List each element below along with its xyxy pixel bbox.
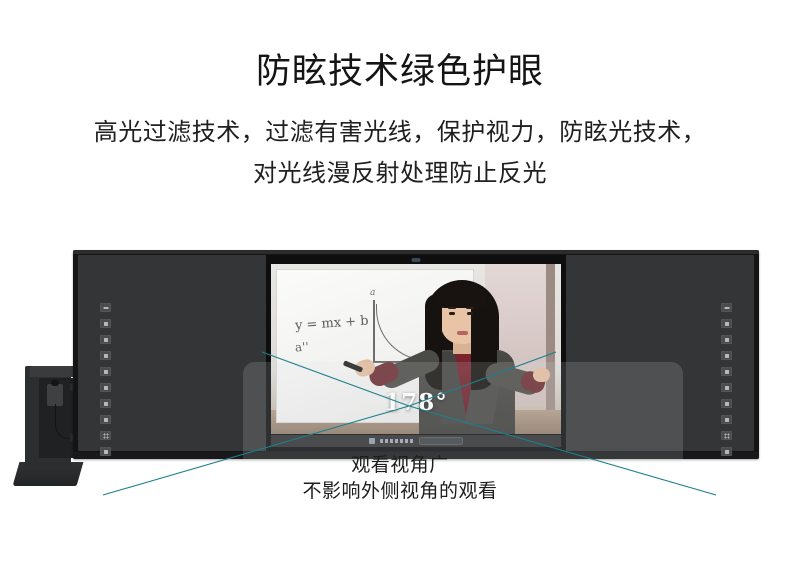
right-key-column (721, 303, 732, 456)
page-title: 防眩技术绿色护眼 (0, 0, 800, 94)
graph-y-axis (373, 300, 375, 362)
hair-fringe (437, 284, 487, 308)
home-key-icon-right[interactable] (721, 399, 732, 408)
center-display: y = mx + b a'' a b (266, 255, 566, 451)
eye-left (449, 312, 455, 315)
whiteboard-equation: y = mx + b (295, 313, 370, 333)
source-key-icon[interactable] (100, 367, 111, 376)
eye-right (467, 312, 473, 315)
whiteboard-equation-2: a'' (295, 340, 310, 355)
caption-line-1: 观看视角广 (0, 452, 800, 478)
right-blackboard-panel (566, 255, 754, 451)
left-blackboard-panel (78, 255, 266, 451)
menu-key-icon-right[interactable] (721, 351, 732, 360)
interactive-flat-panel: y = mx + b a'' a b (73, 250, 759, 459)
volume-key-icon[interactable] (100, 383, 111, 392)
viewing-angle-label: 178° (271, 390, 561, 416)
taskbar-search-box[interactable] (419, 437, 463, 445)
hair-side-left (425, 294, 442, 390)
brightness-up-key-icon-right[interactable] (721, 319, 732, 328)
mouth (457, 331, 468, 335)
camera-icon (47, 384, 63, 406)
power-key-icon[interactable] (100, 303, 111, 312)
brightness-down-key-icon[interactable] (100, 335, 111, 344)
volume-key-icon-right[interactable] (721, 383, 732, 392)
keypad-key-icon-right[interactable] (721, 431, 732, 440)
taskbar-label (380, 439, 414, 443)
apps-key-icon[interactable] (100, 415, 111, 424)
caption-block: 观看视角广 不影响外侧视角的观看 (0, 452, 800, 504)
board-top-bezel (73, 250, 759, 254)
source-key-icon-right[interactable] (721, 367, 732, 376)
caption-line-2: 不影响外侧视角的观看 (0, 478, 800, 504)
graph-label-a: a (370, 288, 375, 298)
os-taskbar[interactable] (271, 435, 561, 447)
display-screen: y = mx + b a'' a b (271, 264, 561, 434)
home-key-icon[interactable] (100, 399, 111, 408)
display-camera-icon (412, 258, 421, 262)
taskbar-items (369, 437, 463, 445)
keypad-key-icon[interactable] (100, 431, 111, 440)
subtitle-line-2: 对光线漫反射处理防止反光 (0, 157, 800, 190)
lecture-scene: y = mx + b a'' a b (271, 264, 561, 434)
eyebrow-right (466, 307, 474, 309)
camera-lens-icon (51, 380, 59, 386)
brightness-up-key-icon[interactable] (100, 319, 111, 328)
hand-right (533, 368, 550, 382)
power-key-icon-right[interactable] (721, 303, 732, 312)
apps-key-icon-right[interactable] (721, 415, 732, 424)
left-key-column (100, 303, 111, 456)
subtitle-line-1: 高光过滤技术，过滤有害光线，保护视力，防眩光技术， (0, 116, 800, 149)
eyebrow-left (448, 307, 456, 309)
brightness-down-key-icon-right[interactable] (721, 335, 732, 344)
heading-block: 防眩技术绿色护眼 高光过滤技术，过滤有害光线，保护视力，防眩光技术， 对光线漫反… (0, 0, 800, 190)
taskbar-app-icon[interactable] (369, 438, 375, 444)
menu-key-icon[interactable] (100, 351, 111, 360)
